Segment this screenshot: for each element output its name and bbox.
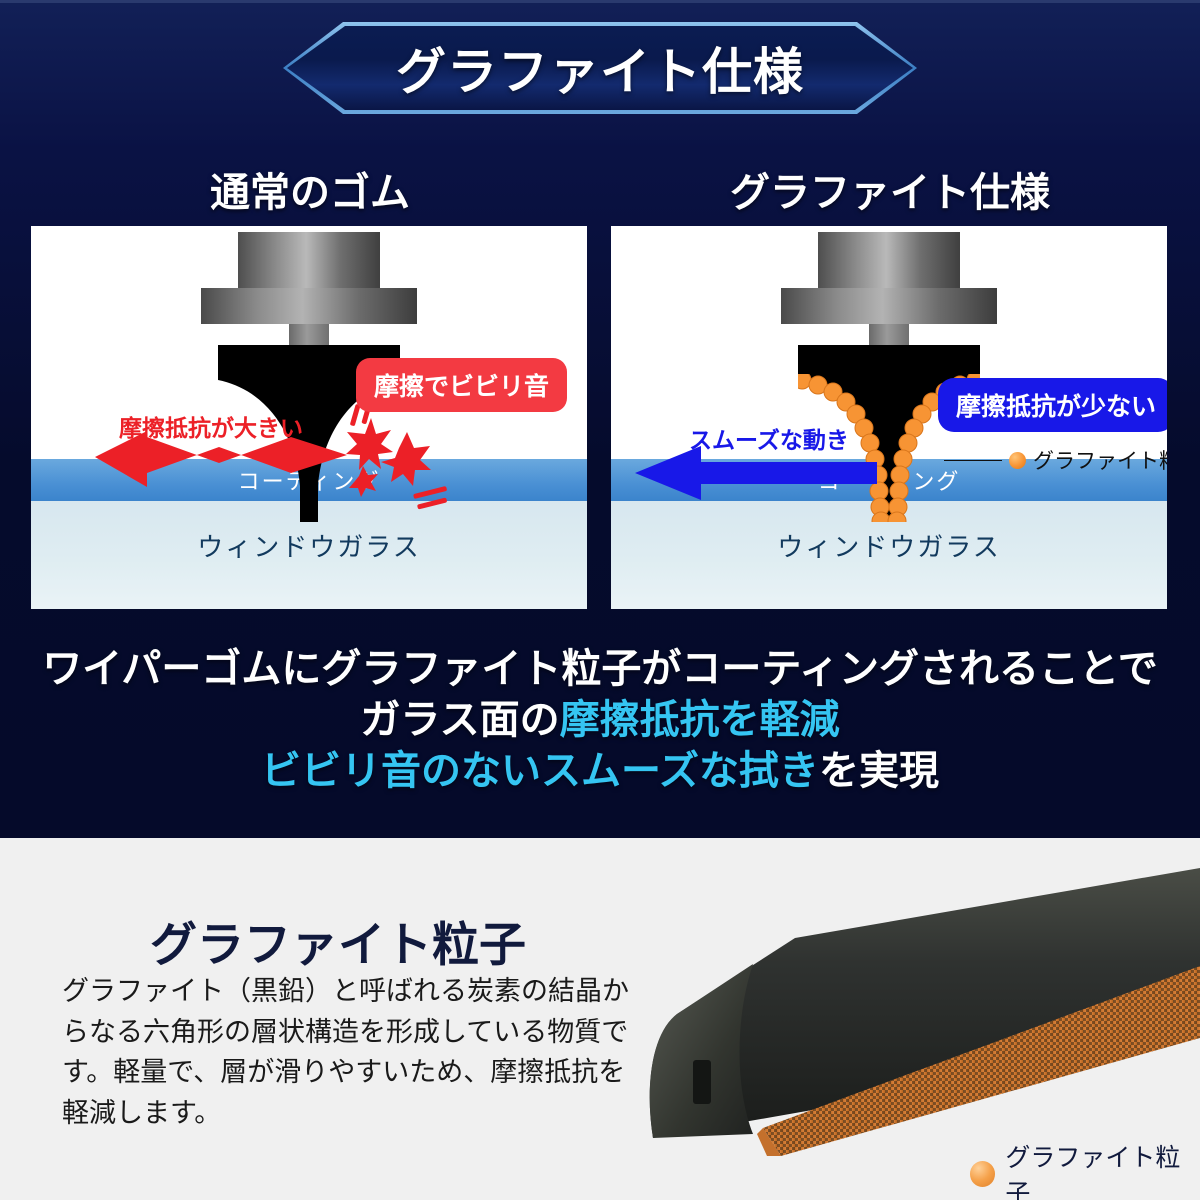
smooth-motion-label-right: スムーズな動き [689,421,849,455]
diagram-panel-normal-rubber: コーティング ウィンドウガラス 摩擦抵抗が大きい [31,226,587,609]
description-line-2: ガラス面の摩擦抵抗を軽減 [0,695,1200,746]
banner-title: グラファイト仕様 [283,22,917,114]
metal-holder-flange-left [201,288,417,324]
low-friction-badge-right: 摩擦抵抗が少ない [938,378,1167,432]
description-line-3: ビビリ音のないスムーズな拭きを実現 [0,746,1200,797]
bottom-section-title: グラファイト粒子 [150,906,526,975]
diagram-panel-graphite: コーティング ウィンドウガラス [611,226,1167,609]
description-line-1: ワイパーゴムにグラファイト粒子がコーティングされることで [0,644,1200,695]
rubber-head-right [798,345,980,377]
description-line-3-highlight: ビビリ音のない [261,749,541,793]
infographic-page: グラファイト仕様 通常のゴム グラファイト仕様 コーティング ウィンドウガラス [0,0,1200,1200]
metal-holder-neck-left [289,324,329,346]
top-hairline [0,0,1200,3]
graphite-particle-icon [1009,452,1026,469]
metal-holder-neck-right [869,324,909,346]
metal-holder-flange-right [781,288,997,324]
metal-holder-top-left [238,232,380,288]
bottom-light-section: グラファイト粒子 グラファイト（黒鉛）と呼ばれる炭素の結晶からなる六角形の層状構… [0,838,1200,1200]
legend-label: グラファイト粒子 [1005,1138,1200,1200]
top-dark-section: グラファイト仕様 通常のゴム グラファイト仕様 コーティング ウィンドウガラス [0,0,1200,838]
description-line-3-highlight-2: スムーズな拭き [541,749,819,793]
callout-leader-line [944,460,1002,461]
friction-arrow-label-left: 摩擦抵抗が大きい [119,409,303,443]
left-panel-title: 通常のゴム [30,160,590,218]
graphite-particle-callout: グラファイト粒子 [944,445,1167,475]
metal-holder-top-right [818,232,960,288]
noise-badge-left: 摩擦でビビリ音 [356,358,567,412]
bottom-section-body: グラファイト（黒鉛）と呼ばれる炭素の結晶からなる六角形の層状構造を形成している物… [62,971,632,1133]
description-line-2-highlight: 摩擦抵抗を軽減 [560,698,840,742]
bottom-legend: グラファイト粒子 [970,1138,1200,1200]
callout-label: グラファイト粒子 [1033,445,1167,475]
right-panel-title: グラファイト仕様 [610,160,1170,218]
legend-graphite-dot-icon [970,1161,995,1187]
description-block: ワイパーゴムにグラファイト粒子がコーティングされることで ガラス面の摩擦抵抗を軽… [0,644,1200,798]
description-line-2-plain: ガラス面の [360,698,559,742]
chatter-spark-icon [331,404,451,514]
header-banner: グラファイト仕様 [283,22,917,114]
glass-label-right: ウィンドウガラス [777,527,1000,564]
description-line-3-plain: を実現 [819,749,939,793]
glass-label-left: ウィンドウガラス [197,527,420,564]
